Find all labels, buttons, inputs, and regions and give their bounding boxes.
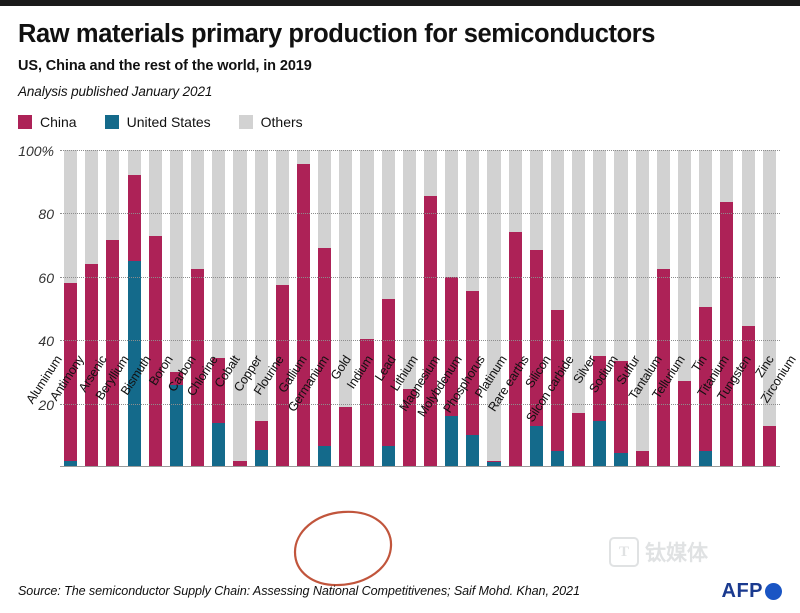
legend-item-others[interactable]: Others xyxy=(239,114,303,130)
y-axis-tick: 60 xyxy=(38,270,54,286)
legend-item-china[interactable]: China xyxy=(18,114,77,130)
legend-swatch-icon xyxy=(239,115,253,129)
page-subtitle: US, China and the rest of the world, in … xyxy=(18,58,782,74)
bar-segment-others xyxy=(85,150,98,264)
bar-segment-others xyxy=(276,150,289,285)
bar-segment-others xyxy=(466,150,479,291)
bar-segment-others xyxy=(149,150,162,236)
bar-segment-others xyxy=(106,150,119,240)
bar-segment-others xyxy=(360,150,373,339)
bar-segment-others xyxy=(64,150,77,283)
gridline: 80 xyxy=(60,213,780,214)
watermark: T 钛媒体 xyxy=(609,537,708,567)
bar-segment-others xyxy=(297,150,310,164)
x-axis-labels: AluminumAntimonyArsenicBerylliumBismuthB… xyxy=(42,353,798,473)
infographic-root: Raw materials primary production for sem… xyxy=(0,20,800,613)
legend-swatch-icon xyxy=(18,115,32,129)
legend-label: China xyxy=(40,114,77,130)
bar-segment-others xyxy=(742,150,755,326)
watermark-text: 钛媒体 xyxy=(645,537,708,567)
page-title: Raw materials primary production for sem… xyxy=(18,20,782,48)
bar-segment-others xyxy=(678,150,691,381)
bar-segment-others xyxy=(551,150,564,310)
afp-logo: AFP xyxy=(722,580,783,603)
chart-legend: ChinaUnited StatesOthers xyxy=(18,114,782,130)
watermark-logo-icon: T xyxy=(609,537,639,567)
bar-segment-others xyxy=(212,150,225,358)
gridline: 60 xyxy=(60,277,780,278)
afp-dot-icon xyxy=(765,583,782,600)
top-bar xyxy=(0,0,800,6)
bar-segment-others xyxy=(699,150,712,307)
legend-swatch-icon xyxy=(105,115,119,129)
gridline: 40 xyxy=(60,340,780,341)
y-axis-tick: 100% xyxy=(18,143,54,159)
bar-segment-others xyxy=(318,150,331,248)
bar-segment-china xyxy=(128,175,141,261)
bar-segment-others xyxy=(720,150,733,202)
y-axis-tick: 80 xyxy=(38,206,54,222)
legend-label: United States xyxy=(127,114,211,130)
bar-segment-others xyxy=(509,150,522,232)
annotation-ellipse-icon xyxy=(291,508,396,588)
analysis-note: Analysis published January 2021 xyxy=(18,84,782,99)
bar-segment-others xyxy=(614,150,627,361)
bar-segment-others xyxy=(530,150,543,250)
bar-segment-others xyxy=(128,150,141,175)
bar-segment-others xyxy=(170,150,183,372)
source-text: Source: The semiconductor Supply Chain: … xyxy=(18,584,580,598)
y-axis-tick: 40 xyxy=(38,333,54,349)
bar-segment-others xyxy=(191,150,204,269)
legend-item-united-states[interactable]: United States xyxy=(105,114,211,130)
bar-segment-others xyxy=(593,150,606,356)
afp-label: AFP xyxy=(722,580,783,603)
afp-text-span: AFP xyxy=(722,580,764,603)
gridline: 100% xyxy=(60,150,780,151)
bar-segment-others xyxy=(424,150,437,196)
legend-label: Others xyxy=(261,114,303,130)
bar-segment-others xyxy=(657,150,670,269)
